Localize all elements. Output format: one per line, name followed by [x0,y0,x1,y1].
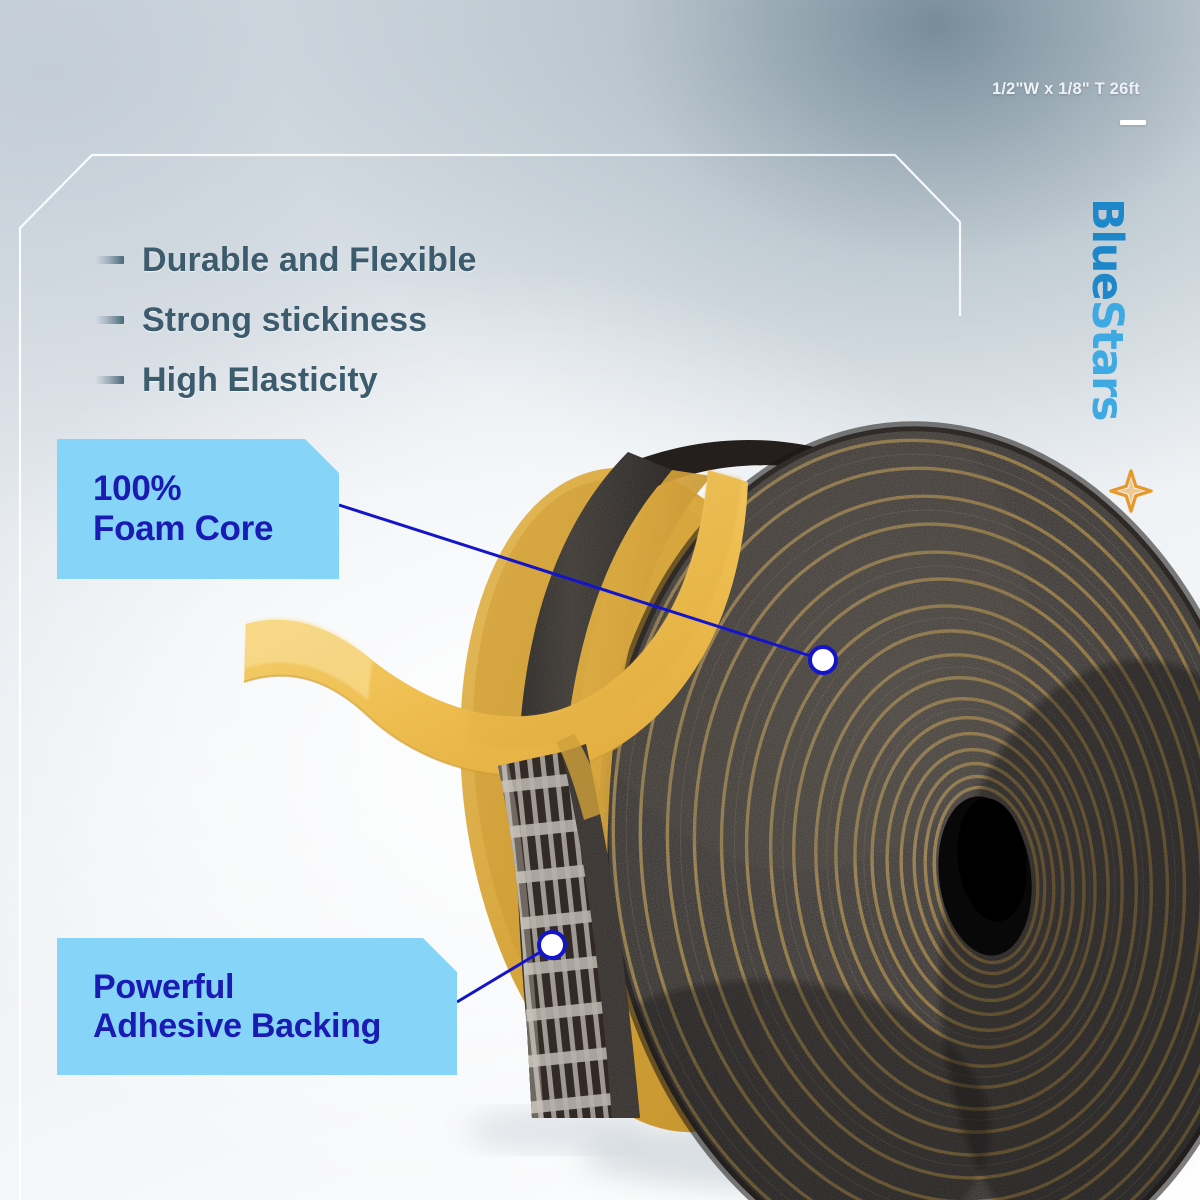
product-image-canvas: 1/2"W x 1/8" T 26ft BlueStars Durable an… [0,0,1200,1200]
callout-adhesive-backing-line2: Adhesive Backing [93,1007,457,1046]
leader-endpoint-foam-core [810,647,836,673]
callout-adhesive-backing-line1: Powerful [93,968,457,1007]
callout-foam-core: 100% Foam Core [57,439,339,579]
leader-line-foam-core [339,505,823,660]
leader-line-adhesive-backing [457,945,552,1002]
callout-adhesive-backing: Powerful Adhesive Backing [57,938,457,1075]
callout-foam-core-line1: 100% [93,469,339,509]
callout-foam-core-line2: Foam Core [93,509,339,549]
leader-endpoint-adhesive-backing [539,932,565,958]
